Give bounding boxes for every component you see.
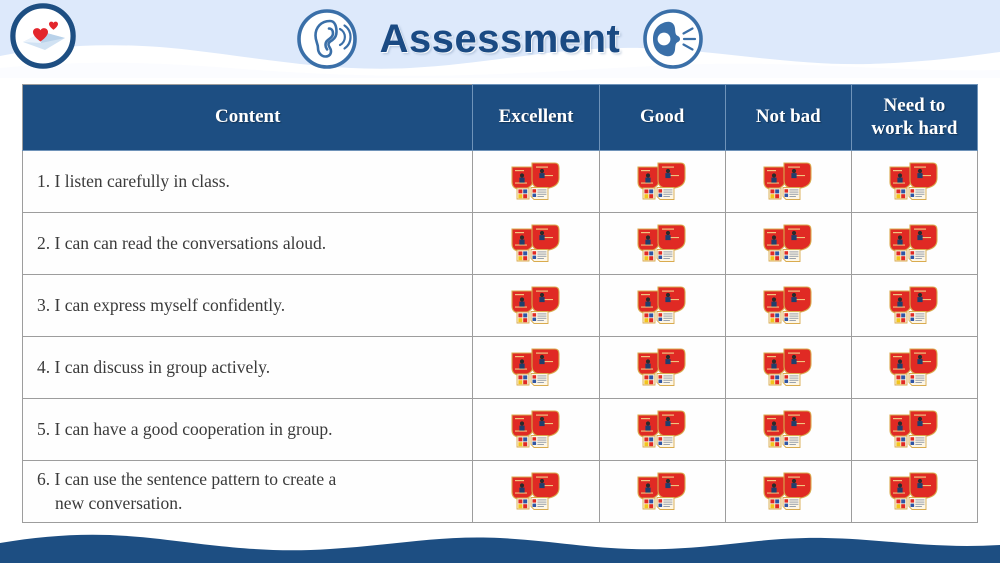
statement-cell: 3. I can express myself confidently. <box>23 275 473 337</box>
red-certificate-stamp-icon[interactable] <box>635 470 689 514</box>
rating-cell-excellent[interactable] <box>473 337 599 399</box>
red-certificate-stamp-icon[interactable] <box>635 160 689 204</box>
red-certificate-stamp-icon[interactable] <box>509 470 563 514</box>
rating-cell-not-bad[interactable] <box>725 151 851 213</box>
red-certificate-stamp-icon[interactable] <box>887 470 941 514</box>
bottom-wave-shape <box>0 529 1000 563</box>
rating-cell-good[interactable] <box>599 399 725 461</box>
red-certificate-stamp-icon[interactable] <box>887 408 941 452</box>
statement-cell: 4. I can discuss in group actively. <box>23 337 473 399</box>
table-row: 1. I listen carefully in class. <box>23 151 978 213</box>
red-certificate-stamp-icon[interactable] <box>635 408 689 452</box>
red-certificate-stamp-icon[interactable] <box>761 160 815 204</box>
rating-cell-need-work[interactable] <box>851 213 977 275</box>
table-row: 6. I can use the sentence pattern to cre… <box>23 461 978 523</box>
rating-cell-not-bad[interactable] <box>725 337 851 399</box>
rating-cell-excellent[interactable] <box>473 399 599 461</box>
red-certificate-stamp-icon[interactable] <box>635 222 689 266</box>
rating-cell-need-work[interactable] <box>851 461 977 523</box>
red-certificate-stamp-icon[interactable] <box>761 346 815 390</box>
statement-cell: 1. I listen carefully in class. <box>23 151 473 213</box>
red-certificate-stamp-icon[interactable] <box>887 346 941 390</box>
column-header-need-to-work-hard: Need to work hard <box>851 85 977 151</box>
table-header: Content Excellent Good Not bad Need to w… <box>23 85 978 151</box>
rating-cell-good[interactable] <box>599 275 725 337</box>
rating-cell-excellent[interactable] <box>473 213 599 275</box>
table-row: 3. I can express myself confidently. <box>23 275 978 337</box>
red-certificate-stamp-icon[interactable] <box>509 346 563 390</box>
column-header-not-bad: Not bad <box>725 85 851 151</box>
rating-cell-need-work[interactable] <box>851 151 977 213</box>
rating-cell-need-work[interactable] <box>851 399 977 461</box>
assessment-table: Content Excellent Good Not bad Need to w… <box>22 84 978 523</box>
red-certificate-stamp-icon[interactable] <box>509 160 563 204</box>
need-work-line-2: work hard <box>871 118 957 139</box>
statement-line-2: new conversation. <box>37 492 462 515</box>
rating-cell-not-bad[interactable] <box>725 213 851 275</box>
rating-cell-good[interactable] <box>599 213 725 275</box>
rating-cell-excellent[interactable] <box>473 275 599 337</box>
statement-cell: 6. I can use the sentence pattern to cre… <box>23 461 473 523</box>
page-title-row: Assessment <box>0 6 1000 72</box>
statement-cell: 5. I can have a good cooperation in grou… <box>23 399 473 461</box>
table-body: 1. I listen carefully in class. <box>23 151 978 523</box>
red-certificate-stamp-icon[interactable] <box>635 284 689 328</box>
need-work-line-1: Need to <box>884 95 946 116</box>
red-certificate-stamp-icon[interactable] <box>761 408 815 452</box>
rating-cell-excellent[interactable] <box>473 151 599 213</box>
rating-cell-need-work[interactable] <box>851 337 977 399</box>
ear-listening-icon <box>296 8 358 70</box>
red-certificate-stamp-icon[interactable] <box>887 160 941 204</box>
column-header-excellent: Excellent <box>473 85 599 151</box>
statement-cell: 2. I can can read the conversations alou… <box>23 213 473 275</box>
table-row: 2. I can can read the conversations alou… <box>23 213 978 275</box>
column-header-content: Content <box>23 85 473 151</box>
rating-cell-not-bad[interactable] <box>725 399 851 461</box>
assessment-table-wrapper: Content Excellent Good Not bad Need to w… <box>22 84 978 523</box>
red-certificate-stamp-icon[interactable] <box>509 284 563 328</box>
red-certificate-stamp-icon[interactable] <box>761 470 815 514</box>
red-certificate-stamp-icon[interactable] <box>761 222 815 266</box>
red-certificate-stamp-icon[interactable] <box>761 284 815 328</box>
speaking-mouth-icon <box>642 8 704 70</box>
red-certificate-stamp-icon[interactable] <box>509 222 563 266</box>
table-row: 4. I can discuss in group actively. <box>23 337 978 399</box>
table-row: 5. I can have a good cooperation in grou… <box>23 399 978 461</box>
statement-line-1: 6. I can use the sentence pattern to cre… <box>37 469 336 489</box>
red-certificate-stamp-icon[interactable] <box>887 284 941 328</box>
table-header-row: Content Excellent Good Not bad Need to w… <box>23 85 978 151</box>
red-certificate-stamp-icon[interactable] <box>509 408 563 452</box>
rating-cell-good[interactable] <box>599 337 725 399</box>
column-header-good: Good <box>599 85 725 151</box>
rating-cell-excellent[interactable] <box>473 461 599 523</box>
page-title: Assessment <box>380 17 621 62</box>
rating-cell-good[interactable] <box>599 151 725 213</box>
red-certificate-stamp-icon[interactable] <box>635 346 689 390</box>
rating-cell-good[interactable] <box>599 461 725 523</box>
red-certificate-stamp-icon[interactable] <box>887 222 941 266</box>
rating-cell-not-bad[interactable] <box>725 275 851 337</box>
rating-cell-need-work[interactable] <box>851 275 977 337</box>
rating-cell-not-bad[interactable] <box>725 461 851 523</box>
